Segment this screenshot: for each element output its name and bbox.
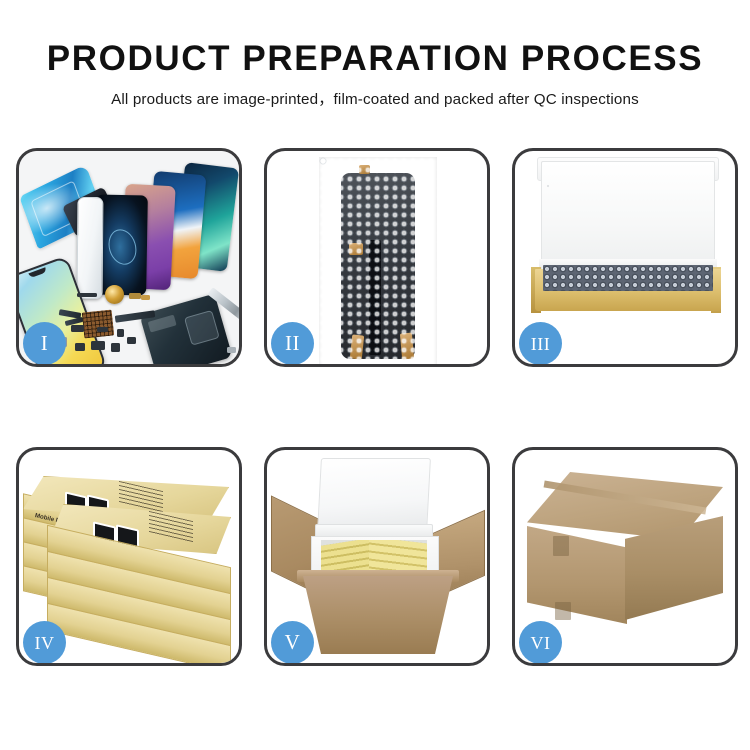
step-panel-carton-foam-packing[interactable]: V	[264, 447, 490, 666]
chip-module	[82, 310, 115, 339]
small-part	[91, 341, 105, 350]
small-part	[227, 347, 236, 353]
foam-lid	[317, 458, 431, 532]
step-badge-4: IV	[23, 621, 66, 664]
small-part	[117, 329, 124, 337]
bubble-texture	[319, 157, 437, 364]
small-part	[71, 325, 84, 332]
small-part	[97, 327, 108, 332]
carton-front-face	[527, 526, 627, 624]
step-panel-product-parts-overview[interactable]: I	[16, 148, 242, 367]
step-badge-2: II	[271, 322, 314, 365]
step-panel-inner-box-packing[interactable]: III	[512, 148, 738, 367]
carton-tab	[555, 602, 571, 620]
step-badge-1: I	[23, 322, 66, 365]
copper-coil-part	[105, 285, 124, 304]
small-part	[129, 293, 141, 299]
small-part	[141, 295, 150, 300]
small-part	[77, 293, 97, 297]
step-panel-boxes-stacked[interactable]: Mobile Phone Spare Parts Mobile Phone Sp…	[16, 447, 242, 666]
bubble-wrapped-contents	[543, 265, 713, 291]
page-title: PRODUCT PREPARATION PROCESS	[0, 0, 750, 78]
bubble-wrap-bag	[319, 157, 437, 364]
step-badge-3: III	[519, 322, 562, 365]
carton-body	[303, 576, 453, 654]
tempered-glass-protector	[77, 197, 104, 299]
process-steps-grid: I II III	[16, 148, 738, 685]
page-header: PRODUCT PREPARATION PROCESS All products…	[0, 0, 750, 109]
carton-tab	[553, 536, 569, 556]
step-badge-5: V	[271, 621, 314, 664]
step-panel-bubble-wrap-packing[interactable]: II	[264, 148, 490, 367]
small-part	[75, 343, 85, 351]
small-part	[111, 343, 120, 352]
step-badge-6: VI	[519, 621, 562, 664]
step-panel-sealed-carton[interactable]: VI	[512, 447, 738, 666]
page-subtitle: All products are image-printed，film-coat…	[0, 78, 750, 109]
foam-sheet	[545, 183, 709, 257]
small-part	[127, 337, 136, 344]
